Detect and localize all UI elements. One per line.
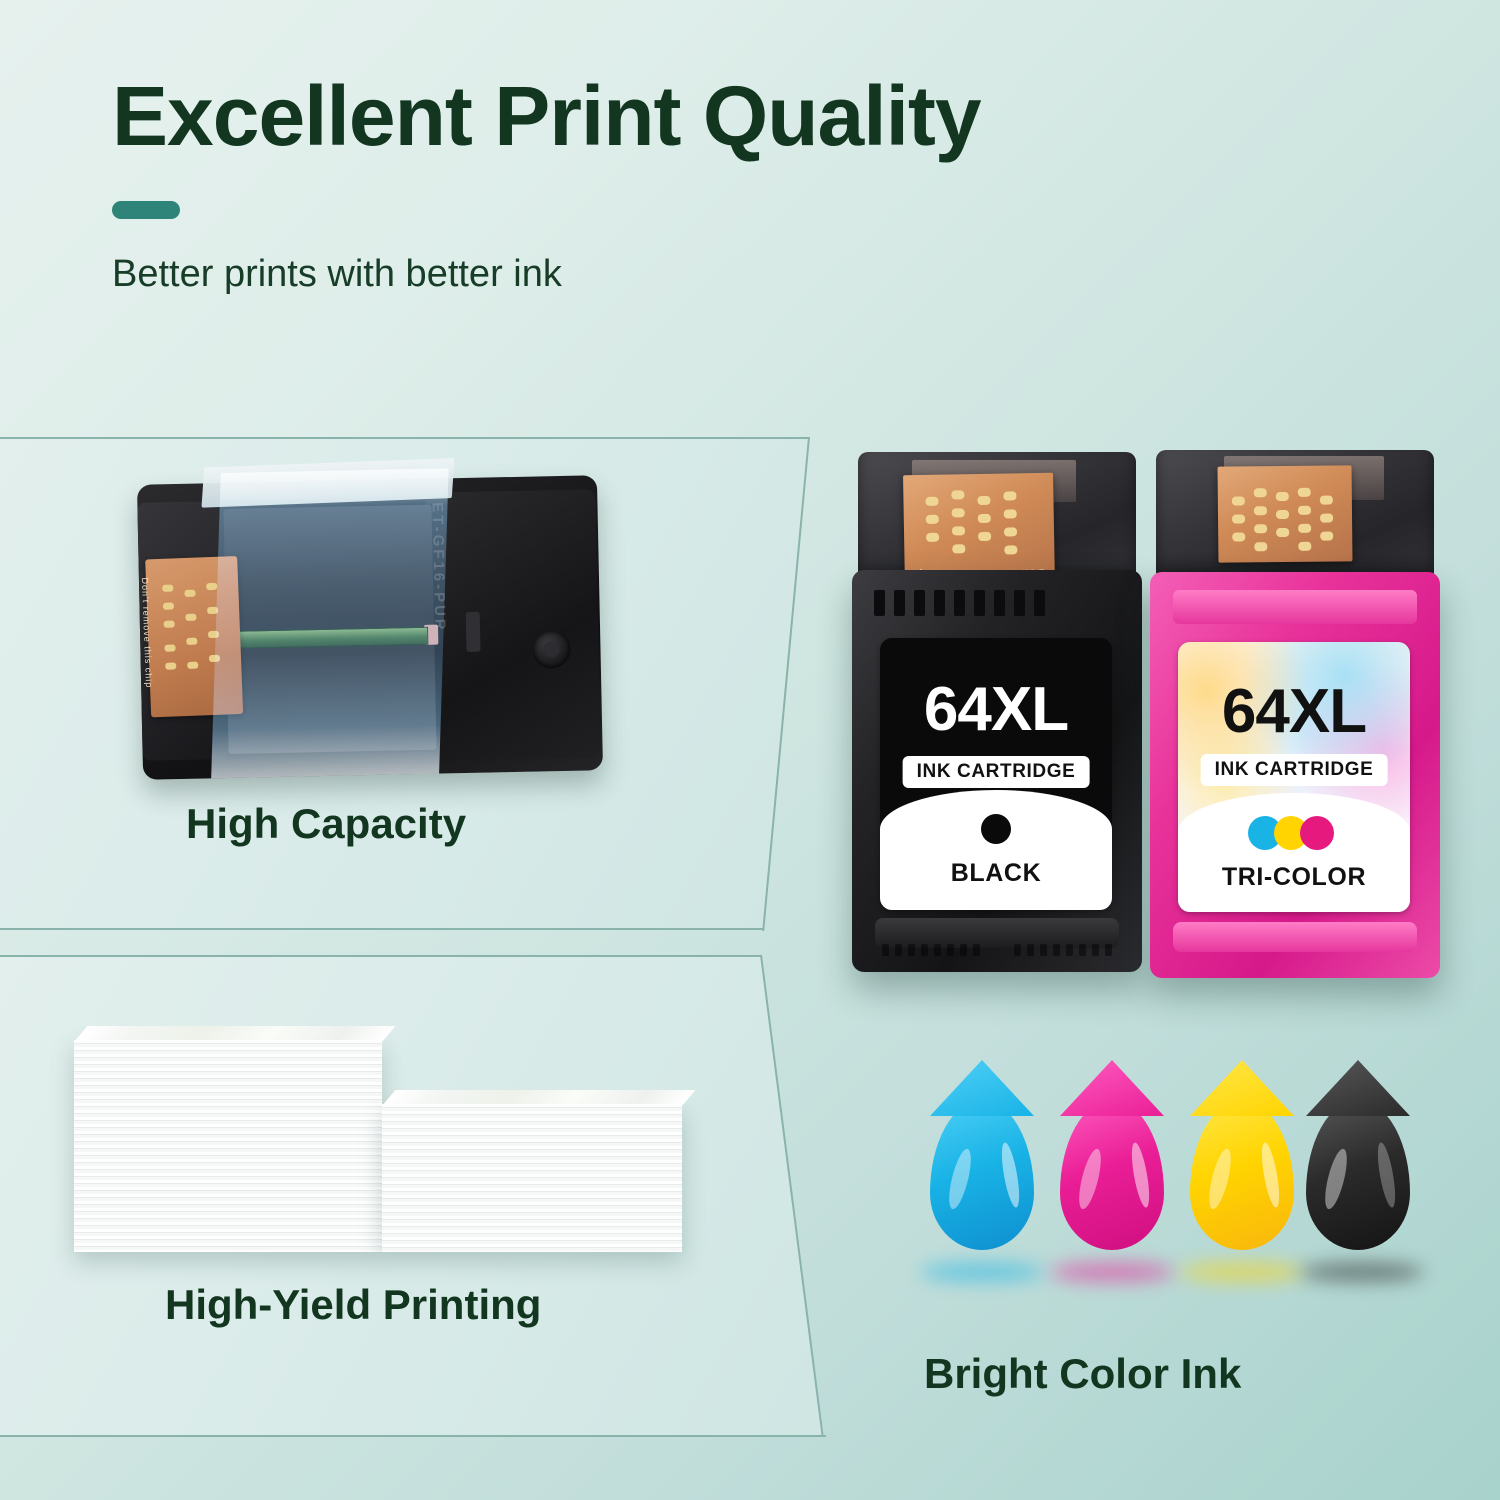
drop-shadow (1300, 1262, 1424, 1282)
bottom-grip (1173, 922, 1417, 952)
cartridge-label-color: 64XL INK CARTRIDGE TRI-COLOR (1178, 642, 1410, 912)
panel-bottom-bottom-edge (0, 1435, 826, 1437)
panel-bottom-top-edge (0, 955, 762, 957)
cartridge-code: 64XL (1178, 676, 1410, 747)
latch-tab (466, 612, 481, 652)
cartridge-black: Don't remove this chip 64XL INK CARTRIDG… (852, 452, 1142, 972)
grip-ribs-right (1014, 940, 1112, 956)
vent-slots (874, 590, 1045, 616)
drop-shadow (920, 1262, 1044, 1282)
page-subtitle: Better prints with better ink (112, 253, 1372, 296)
cartridge-shell: 64XL INK CARTRIDGE BLACK (852, 570, 1142, 972)
accent-dash (112, 201, 180, 219)
tri-color-dots-icon (1248, 816, 1340, 850)
label-white-base (880, 790, 1112, 910)
label-white-base (1178, 793, 1410, 912)
protective-tape (211, 468, 449, 778)
cartridge-pill-label: INK CARTRIDGE (903, 756, 1090, 788)
cartridge-label-black: 64XL INK CARTRIDGE BLACK (880, 638, 1112, 910)
drop-shadow (1180, 1262, 1304, 1282)
ink-drop-cyan-tip (930, 1060, 1034, 1116)
paper-edges (382, 1104, 682, 1252)
grip-ribs-left (882, 940, 980, 956)
cartridge-pill-label: INK CARTRIDGE (1201, 754, 1388, 786)
list-item (74, 1040, 382, 1252)
ink-drop-yellow (1190, 1100, 1294, 1250)
ink-drop-magenta-tip (1060, 1060, 1164, 1116)
ink-drop-magenta (1060, 1100, 1164, 1250)
cartridge-right-housing: PET-GF16-PUR (425, 489, 601, 761)
contact-chip (1218, 465, 1353, 562)
cartridge-bottom-photo: PET-GF16-PUR Don't remove this chip (137, 475, 603, 780)
product-feature-page: Excellent Print Quality Better prints wi… (0, 0, 1500, 1500)
cartridge-color-name: TRI-COLOR (1178, 863, 1410, 892)
ink-drop-cyan (930, 1100, 1034, 1250)
cartridge-shell: 64XL INK CARTRIDGE TRI-COLOR (1150, 572, 1440, 978)
screw-icon (532, 630, 571, 669)
black-ink-dot (981, 814, 1011, 844)
cartridge-color-name: BLACK (880, 859, 1112, 888)
top-grip (1173, 590, 1417, 624)
caption-high-yield: High-Yield Printing (165, 1281, 541, 1329)
ink-drop-yellow-tip (1190, 1060, 1294, 1116)
page-title: Excellent Print Quality (112, 72, 1372, 161)
drop-shadow (1050, 1262, 1174, 1282)
paper-edges (74, 1040, 382, 1252)
list-item (382, 1104, 682, 1252)
caption-bright-color: Bright Color Ink (924, 1350, 1241, 1398)
caption-high-capacity: High Capacity (186, 800, 466, 848)
header: Excellent Print Quality Better prints wi… (112, 72, 1372, 296)
ink-drop-black-tip (1306, 1060, 1410, 1116)
cartridge-tri-color: 64XL INK CARTRIDGE TRI-COLOR (1150, 450, 1440, 978)
ink-drop-black (1306, 1100, 1410, 1250)
cartridge-code: 64XL (880, 674, 1112, 745)
